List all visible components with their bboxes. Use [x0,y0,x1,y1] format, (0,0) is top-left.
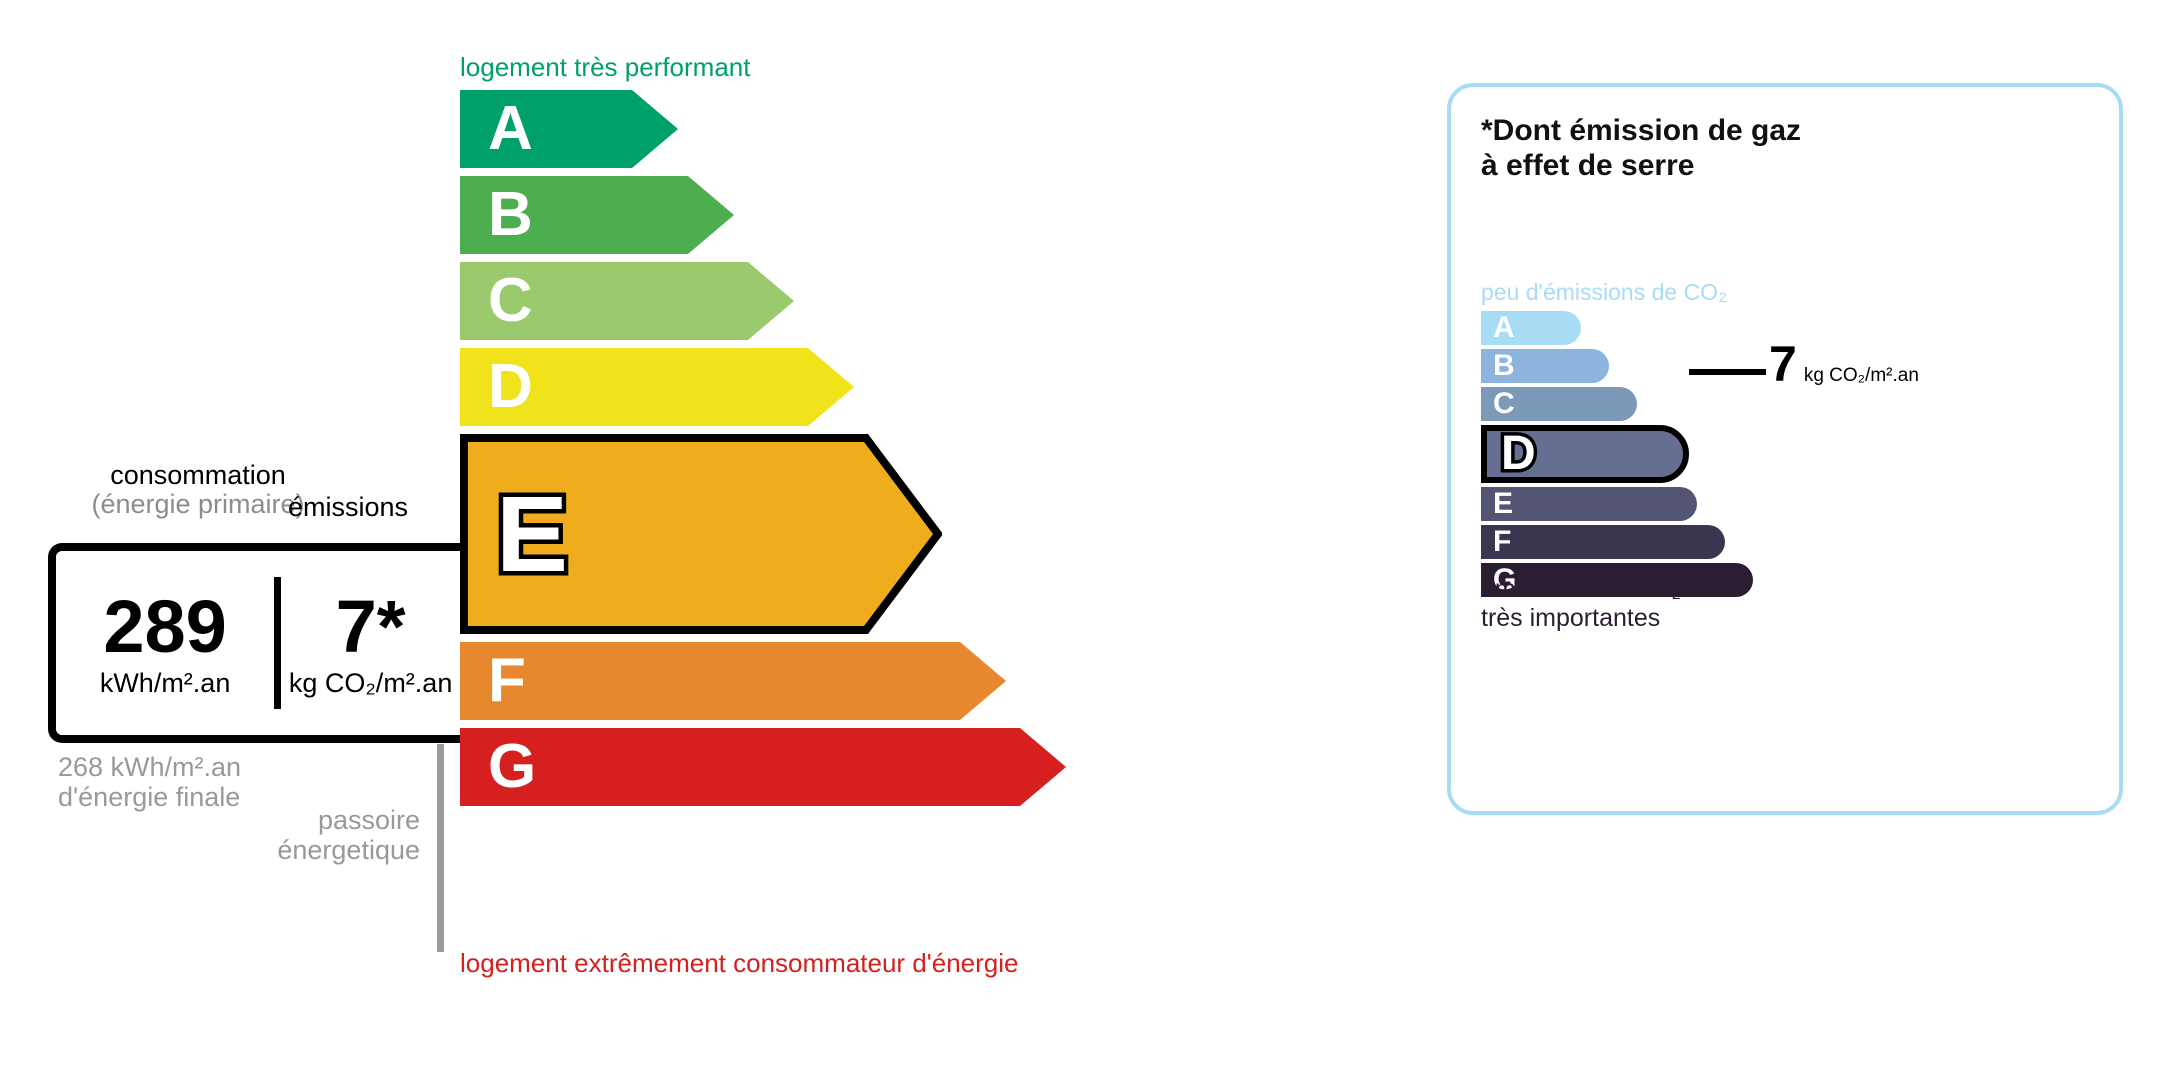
ges-value-unit: kg CO₂/m².an [1804,365,1919,387]
consumption-value-cell: 289 kWh/m².an [56,551,274,735]
ges-class-bar-f: F [1481,525,1725,559]
ges-leader-line [1689,369,1766,375]
ges-class-letter-d: D [1501,430,1536,478]
energy-class-bar-g: G [460,728,1066,806]
energy-class-bar-b: B [460,176,734,254]
passoire-label-line1: passoire [170,805,420,835]
ges-value: 7 [1769,339,1797,389]
ges-class-bar-c: C [1481,387,1637,421]
energy-class-letter-g: G [488,736,536,798]
ges-emissions-panel: *Dont émission de gaz à effet de serre p… [1447,83,2123,815]
emissions-value: 7* [336,591,406,662]
ges-bottom-caption: émissions de CO₂ très importantes [1481,575,1681,632]
consumption-unit: kWh/m².an [100,668,231,699]
energy-class-letter-a: A [488,98,533,160]
consumption-label-main: consommation [110,460,286,490]
energy-class-letter-c: C [488,270,533,332]
ges-class-letter-c: C [1493,389,1515,419]
value-box-divider [274,577,281,709]
passoire-label: passoire énergetique [170,805,420,865]
ges-class-letter-f: F [1493,527,1511,557]
passoire-label-line2: énergetique [170,835,420,865]
energy-bar-shape-g [460,728,1066,806]
energy-class-bar-d: D [460,348,854,426]
final-energy-note-line1: 268 kWh/m².an [58,752,241,782]
energy-class-letter-f: F [488,650,526,712]
energy-class-letter-d: D [488,356,533,418]
energy-class-bar-f: F [460,642,1006,720]
ges-class-letter-e: E [1493,489,1513,519]
energy-class-letter-e: E [496,480,568,588]
ges-class-bar-b: B [1481,349,1609,383]
emissions-unit: kg CO₂/m².an [289,668,453,699]
energy-top-caption: logement très performant [460,52,750,83]
ges-class-bar-a: A [1481,311,1581,345]
energy-class-letter-b: B [488,184,533,246]
final-energy-note: 268 kWh/m².an d'énergie finale [58,752,241,812]
ges-panel-title: *Dont émission de gaz à effet de serre [1481,114,1801,184]
energy-bar-shape-f [460,642,1006,720]
passoire-divider-rule [437,744,444,952]
emissions-value-cell: 7* kg CO₂/m².an [281,551,460,735]
energy-class-bar-a: A [460,90,678,168]
emissions-label: émissions [288,492,408,523]
ges-class-letter-b: B [1493,351,1515,381]
energy-performance-panel: logement très performant ABCDEFG logemen… [0,0,1400,1079]
energy-class-bar-c: C [460,262,794,340]
ges-value-callout: 7 kg CO₂/m².an [1769,339,1919,389]
value-summary-box: 289 kWh/m².an 7* kg CO₂/m².an [48,543,460,743]
energy-bottom-caption: logement extrêmement consommateur d'éner… [460,948,1018,979]
energy-class-bar-e: E [460,434,942,634]
consumption-value: 289 [103,591,226,662]
ges-class-bar-d: D [1481,425,1689,483]
ges-top-caption: peu d'émissions de CO₂ [1481,279,1727,306]
ges-class-letter-a: A [1493,313,1515,343]
ges-class-bar-e: E [1481,487,1697,521]
